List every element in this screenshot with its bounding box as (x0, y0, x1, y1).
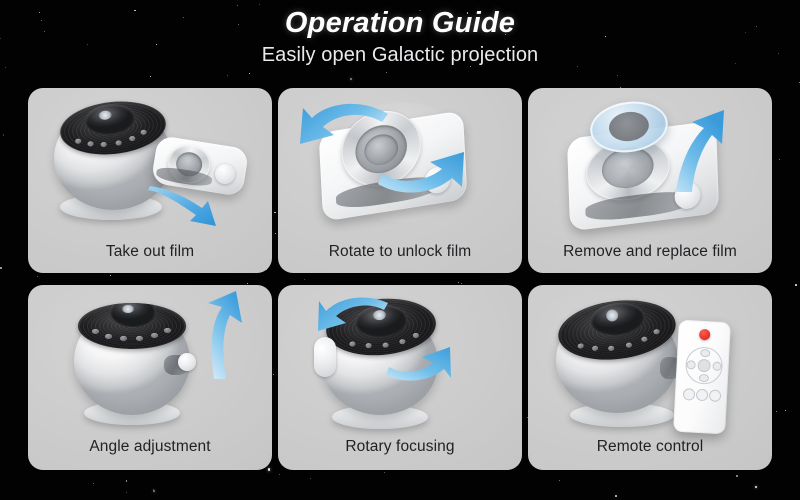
poster-header: Operation Guide Easily open Galactic pro… (0, 0, 800, 86)
step-caption: Rotary focusing (278, 432, 522, 462)
step-card-rotary-focusing[interactable]: Rotary focusing (278, 285, 522, 470)
steps-grid: Take out film (28, 88, 772, 480)
step-caption: Rotate to unlock film (278, 237, 522, 267)
operation-guide-poster: Operation Guide Easily open Galactic pro… (0, 0, 800, 500)
function-button-timer[interactable] (683, 388, 696, 401)
dpad-right-button[interactable] (712, 362, 721, 371)
illustration-replace-film-disc (528, 88, 772, 238)
arrow-down-right-icon (146, 188, 224, 236)
step-card-rotate-to-unlock-film[interactable]: Rotate to unlock film (278, 88, 522, 273)
arrow-curved-up-icon (192, 291, 254, 381)
step-card-remote-control[interactable]: Remote control (528, 285, 772, 470)
step-caption: Remote control (528, 432, 772, 462)
step-caption: Take out film (28, 237, 272, 267)
page-title: Operation Guide (0, 0, 800, 40)
illustration-film-cartridge-rotating (278, 88, 522, 238)
illustration-projector-front (28, 285, 272, 435)
dpad-ok-button[interactable] (697, 359, 711, 373)
dpad-down-button[interactable] (699, 374, 709, 383)
illustration-projector-with-film-cartridge (28, 88, 272, 238)
page-subtitle: Easily open Galactic projection (0, 40, 800, 68)
arrow-rotate-left-icon (318, 293, 392, 345)
step-card-angle-adjustment[interactable]: Angle adjustment (28, 285, 272, 470)
arrow-rotate-right-icon (374, 134, 466, 196)
function-button-brightness[interactable] (696, 389, 709, 402)
arrow-up-icon (674, 108, 732, 194)
power-button[interactable] (699, 329, 711, 341)
arrow-rotate-right-icon (384, 337, 452, 385)
step-card-take-out-film[interactable]: Take out film (28, 88, 272, 273)
remote-control-device[interactable] (673, 320, 731, 435)
step-caption: Remove and replace film (528, 237, 772, 267)
dpad-up-button[interactable] (700, 349, 710, 358)
dpad[interactable] (685, 346, 724, 385)
step-card-remove-and-replace-film[interactable]: Remove and replace film (528, 88, 772, 273)
function-button-mode[interactable] (709, 389, 722, 402)
illustration-projector-with-remote (528, 285, 772, 435)
step-caption: Angle adjustment (28, 432, 272, 462)
dpad-left-button[interactable] (686, 360, 695, 369)
illustration-projector-rotary (278, 285, 522, 435)
